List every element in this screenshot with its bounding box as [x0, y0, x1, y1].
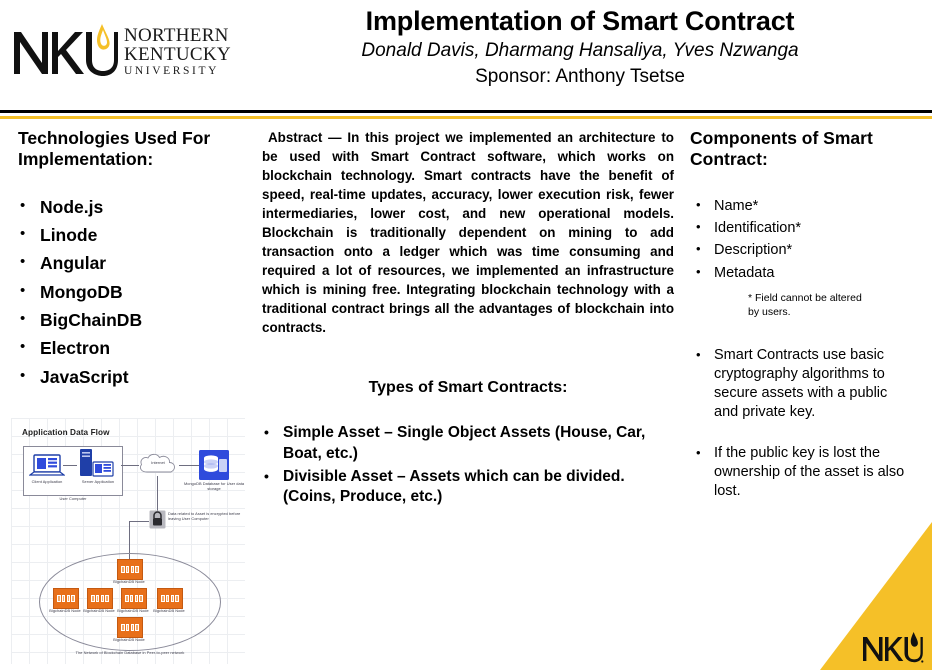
header-divider-gold: [0, 116, 932, 119]
diagram-title: Application Data Flow: [22, 428, 110, 437]
header-divider-black: [0, 110, 932, 113]
corner-nku-logo: [862, 632, 924, 664]
node-cells: [161, 595, 179, 602]
bigchaindb-node-label: BigchainDB Node: [145, 609, 193, 614]
smart-contract-types-list: Simple Asset – Single Object Assets (Hou…: [262, 423, 674, 507]
cryptography-notes-list: Smart Contracts use basic cryptography a…: [690, 346, 914, 502]
user-computer-label: User Computer: [47, 497, 99, 502]
node-cells: [121, 566, 139, 573]
bigchaindb-node: [87, 588, 113, 609]
list-item: Smart Contracts use basic cryptography a…: [690, 346, 914, 423]
mongodb-label: MongoDB Database for User data storage: [177, 482, 246, 492]
list-item: MongoDB: [18, 278, 246, 306]
bigchaindb-node: [121, 588, 147, 609]
types-heading: Types of Smart Contracts:: [262, 379, 674, 397]
sponsor-line: Sponsor: Anthony Tsetse: [250, 66, 910, 89]
bigchaindb-node: [117, 559, 143, 580]
list-item: Description*: [690, 239, 914, 261]
arrow-server-to-client: [63, 465, 77, 466]
list-item: Node.js: [18, 193, 246, 221]
list-item: Metadata: [690, 262, 914, 284]
bigchaindb-node: [117, 617, 143, 638]
list-item: Divisible Asset – Assets which can be di…: [262, 467, 674, 508]
line-lock-elbow-vertical: [129, 521, 130, 551]
logo-line-northern: NORTHERN: [124, 26, 231, 45]
technologies-heading: Technologies Used For Implementation:: [18, 128, 246, 171]
node-cells: [57, 595, 75, 602]
list-item: If the public key is lost the ownership …: [690, 444, 914, 501]
abstract-text: Abstract — In this project we implemente…: [262, 128, 674, 337]
client-application-label: Client Application: [23, 480, 71, 485]
left-column: Technologies Used For Implementation: No…: [18, 128, 246, 391]
bigchaindb-node: [157, 588, 183, 609]
list-item: JavaScript: [18, 363, 246, 391]
author-list: Donald Davis, Dharmang Hansaliya, Yves N…: [250, 40, 910, 63]
arrow-internet-to-mongodb: [179, 465, 199, 466]
logo-line-university: UNIVERSITY: [124, 66, 231, 78]
list-item: Linode: [18, 221, 246, 249]
components-heading: Components of Smart Contract:: [690, 128, 914, 171]
list-item: Identification*: [690, 217, 914, 239]
internet-label: Internet: [142, 461, 174, 466]
list-item: Simple Asset – Single Object Assets (Hou…: [262, 423, 674, 464]
poster-header: NORTHERN KENTUCKY UNIVERSITY Implementat…: [0, 0, 932, 108]
bigchaindb-node-label: BigchainDB Node: [105, 638, 153, 643]
logo-line-kentucky: KENTUCKY: [124, 45, 231, 64]
node-cells: [125, 595, 143, 602]
server-application-label: Server Application: [73, 480, 123, 485]
nku-logo-mark: [12, 22, 120, 82]
components-footnote: * Field cannot be altered by users.: [748, 292, 868, 320]
header-text-block: Implementation of Smart Contract Donald …: [250, 6, 910, 89]
node-cells: [91, 595, 109, 602]
bigchaindb-node-label: BigchainDB Node: [105, 580, 153, 585]
right-column: Components of Smart Contract: Name* Iden…: [690, 128, 914, 524]
technologies-list: Node.js Linode Angular MongoDB BigChainD…: [18, 193, 246, 391]
list-item: BigChainDB: [18, 306, 246, 334]
mongodb-icon: [199, 450, 229, 480]
encryption-label: Data related to Asset is encrypted befor…: [168, 512, 244, 522]
peer-network-caption: The Network of Blockchain Database in Pe…: [59, 651, 201, 656]
bigchaindb-node: [53, 588, 79, 609]
list-item: Angular: [18, 249, 246, 277]
node-cells: [121, 624, 139, 631]
nku-logo-wordmark: NORTHERN KENTUCKY UNIVERSITY: [124, 26, 231, 78]
nku-logo: NORTHERN KENTUCKY UNIVERSITY: [12, 22, 237, 84]
server-application-icon: [77, 448, 115, 480]
page-title: Implementation of Smart Contract: [250, 6, 910, 37]
list-item: Electron: [18, 334, 246, 362]
list-item: Name*: [690, 195, 914, 217]
client-application-icon: [29, 452, 65, 480]
line-internet-to-lock: [157, 476, 158, 512]
encryption-lock-icon: [149, 510, 166, 529]
line-lock-elbow-horizontal: [129, 521, 149, 522]
center-column: Abstract — In this project we implemente…: [262, 128, 674, 510]
application-data-flow-diagram: Application Data Flow Client Application…: [10, 417, 246, 665]
components-list: Name* Identification* Description* Metad…: [690, 195, 914, 284]
